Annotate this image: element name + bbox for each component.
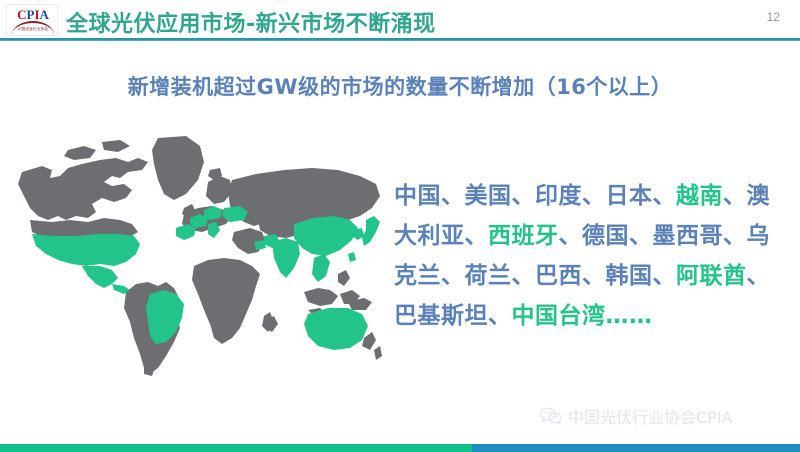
country-name: 中国台湾 [512,303,606,329]
country-list: 中国、美国、印度、日本、越南、澳大利亚、西班牙、德国、墨西哥、乌克兰、荷兰、巴西… [394,176,786,336]
country-separator: 、 [441,183,465,209]
country-separator: 、 [747,263,771,289]
country-name: 墨西哥 [653,223,724,249]
watermark: 中国光伏行业协会CPIA [540,404,733,428]
country-separator: 、 [582,183,606,209]
logo-subtext: 中国光伏行业协会 [7,27,59,32]
country-name: 巴西 [535,263,582,289]
country-name: 美国 [465,183,512,209]
country-name: 德国 [582,223,629,249]
logo-letter-a: A [40,7,49,22]
bottom-bar-green-segment [0,444,472,452]
country-separator: 、 [512,263,536,289]
world-map [8,124,390,379]
country-name: 印度 [535,183,582,209]
country-separator: 、 [653,263,677,289]
subtitle: 新增装机超过GW级的市场的数量不断增加（16个以上） [0,71,800,101]
country-separator: 、 [488,303,512,329]
logo-letters: CPIA [7,8,59,21]
page-title: 全球光伏应用市场-新兴市场不断涌现 [66,6,436,38]
page-number: 12 [767,10,780,24]
country-separator: 、 [465,223,489,249]
country-separator: 、 [723,223,747,249]
country-name: 中国 [394,183,441,209]
country-separator: 、 [629,223,653,249]
watermark-text: 中国光伏行业协会CPIA [568,404,733,428]
country-separator: 、 [582,263,606,289]
country-separator: 、 [441,263,465,289]
slide-header: CPIA 中国光伏行业协会 全球光伏应用市场-新兴市场不断涌现 12 [0,0,800,41]
header-divider [0,38,800,41]
bottom-bar-blue-segment [472,444,800,452]
slide: CPIA 中国光伏行业协会 全球光伏应用市场-新兴市场不断涌现 12 新增装机超… [0,0,800,452]
country-name: 越南 [676,183,723,209]
country-separator: 、 [653,183,677,209]
country-name: 荷兰 [465,263,512,289]
wechat-icon [540,407,562,425]
bottom-accent-bar [0,444,800,452]
world-map-svg [8,124,390,379]
country-name: 阿联酋 [676,263,747,289]
country-name: 日本 [606,183,653,209]
country-separator: 、 [723,183,747,209]
country-separator: 、 [512,183,536,209]
country-list-ellipsis: …… [606,303,653,329]
country-name: 巴基斯坦 [394,303,488,329]
cpia-logo: CPIA 中国光伏行业协会 [6,4,58,36]
country-name: 西班牙 [488,223,559,249]
country-separator: 、 [559,223,583,249]
country-name: 韩国 [606,263,653,289]
